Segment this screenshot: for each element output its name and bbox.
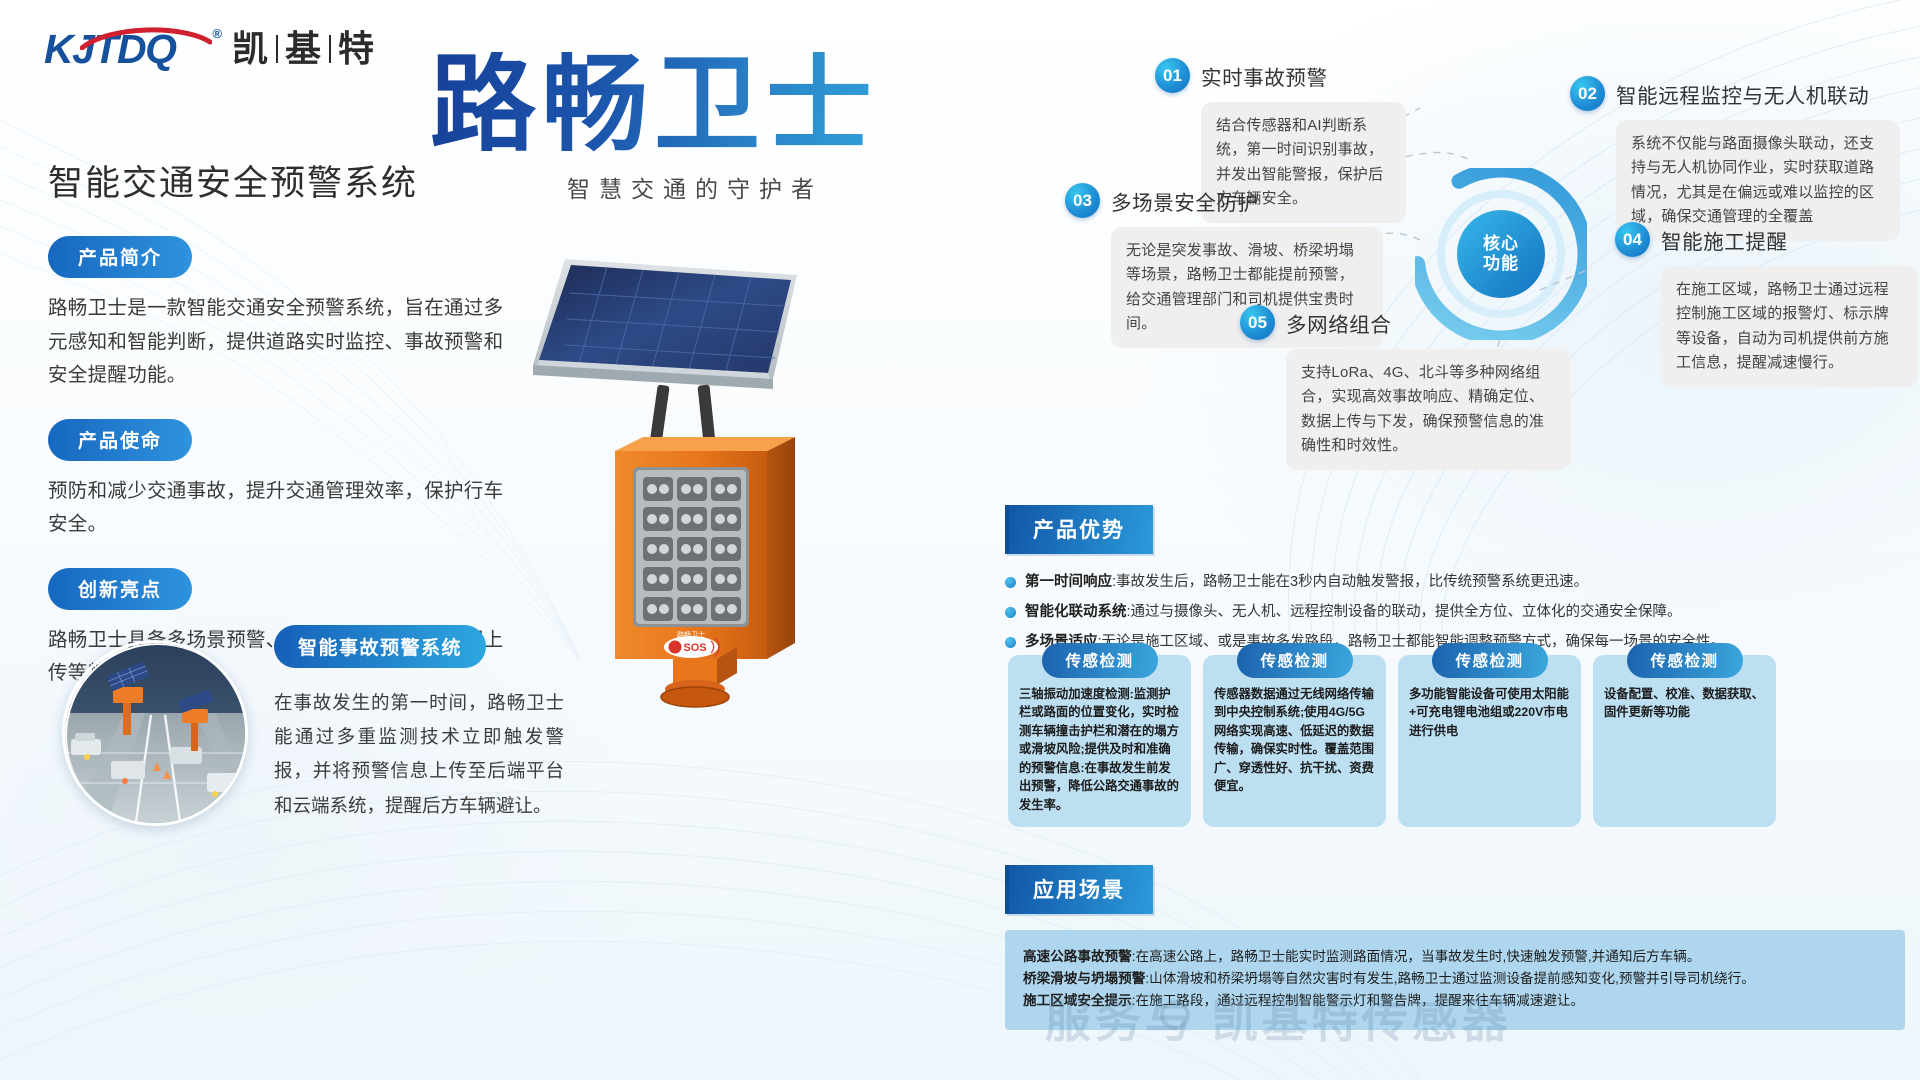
advantage-item: 第一时间响应:事故发生后，路畅卫士能在3秒内自动触发警报，比传统预警系统更迅速。: [1005, 572, 1885, 593]
callout-05-title: 多网络组合: [1286, 308, 1392, 338]
device-photo: 路畅卫士 SOS: [505, 245, 905, 715]
callout-02: 02 智能远程监控与无人机联动 系统不仅能与路面摄像头联动，还支持与无人机协同作…: [1570, 76, 1900, 241]
callout-05-head: 05 多网络组合: [1240, 305, 1540, 340]
applications-box: 高速公路事故预警:在高速公路上，路畅卫士能实时监测路面情况，当事故发生时,快速触…: [1005, 930, 1905, 1030]
logo-arc-icon: [80, 24, 212, 50]
sensor-card-2: 传感检测 传感器数据通过无线网络传输到中央控制系统;使用4G/5G网络实现高速、…: [1203, 655, 1386, 827]
sos-label: SOS: [683, 642, 706, 654]
application-desc: 山体滑坡和桥梁坍塌等自然灾害时有发生,路畅卫士通过监测设备提前感知变化,预警并引…: [1149, 971, 1755, 986]
section-pill-product-mission: 产品使命: [48, 419, 192, 461]
applications-section: 应用场景 高速公路事故预警:在高速公路上，路畅卫士能实时监测路面情况，当事故发生…: [1005, 865, 1905, 1030]
callout-03-badge: 03: [1065, 183, 1100, 218]
advantage-text: 第一时间响应:事故发生后，路畅卫士能在3秒内自动触发警报，比传统预警系统更迅速。: [1025, 572, 1588, 593]
callout-01-title: 实时事故预警: [1201, 61, 1328, 91]
core-function-label: 核心 功能: [1483, 234, 1519, 274]
section-product-mission: 产品使命 预防和减少交通事故，提升交通管理效率，保护行车安全。: [48, 419, 518, 542]
advantage-desc: 通过与摄像头、无人机、远程控制设备的联动，提供全方位、立体化的交通安全保障。: [1131, 604, 1682, 620]
section-text-product-mission: 预防和减少交通事故，提升交通管理效率，保护行车安全。: [48, 475, 518, 542]
advantages-list: 第一时间响应:事故发生后，路畅卫士能在3秒内自动触发警报，比传统预警系统更迅速。…: [1005, 572, 1885, 653]
page-title: 智能交通安全预警系统: [48, 155, 518, 206]
callout-05-badge: 05: [1240, 305, 1275, 340]
logo-cn-char-2: 基: [285, 26, 322, 72]
advantages-section: 产品优势 第一时间响应:事故发生后，路畅卫士能在3秒内自动触发警报，比传统预警系…: [1005, 505, 1885, 662]
bullet-dot-icon: [1005, 637, 1016, 648]
bullet-dot-icon: [1005, 577, 1016, 588]
callout-05: 05 多网络组合 支持LoRa、4G、北斗等多种网络组合，实现高效事故响应、精确…: [1240, 305, 1540, 470]
logo-mark: KJTDQ ®: [44, 26, 216, 72]
brand-logo: KJTDQ ® 凯 基 特: [44, 26, 375, 72]
application-line: 桥梁滑坡与坍塌预警:山体滑坡和桥梁坍塌等自然灾害时有发生,路畅卫士通过监测设备提…: [1023, 968, 1887, 990]
application-label: 高速公路事故预警: [1023, 949, 1132, 964]
callout-02-head: 02 智能远程监控与无人机联动: [1570, 76, 1900, 111]
callout-03-head: 03 多场景安全防护: [1065, 183, 1355, 218]
registered-trademark-icon: ®: [212, 26, 222, 41]
bullet-dot-icon: [1005, 607, 1016, 618]
poster-root: KJTDQ ® 凯 基 特 路畅卫士 智慧交通的守护者 智能交通安全预警系统 产…: [0, 0, 1920, 1080]
callout-01-badge: 01: [1155, 58, 1190, 93]
advantage-label: 智能化联动系统: [1025, 604, 1127, 620]
section-pill-product-intro: 产品简介: [48, 236, 192, 278]
callout-02-badge: 02: [1570, 76, 1605, 111]
section-text-product-intro: 路畅卫士是一款智能交通安全预警系统，旨在通过多元感知和智能判断，提供道路实时监控…: [48, 292, 518, 393]
section-product-intro: 产品简介 路畅卫士是一款智能交通安全预警系统，旨在通过多元感知和智能判断，提供道…: [48, 236, 518, 393]
sensor-cards-row: 传感检测 三轴振动加速度检测:监测护栏或路面的位置变化，实时检测车辆撞击护栏和潜…: [1008, 655, 1776, 827]
sensor-card-1-body: 三轴振动加速度检测:监测护栏或路面的位置变化，实时检测车辆撞击护栏和潜在的塌方或…: [1019, 685, 1180, 814]
sensor-card-2-title: 传感检测: [1236, 643, 1352, 678]
highway-scene-photo: [62, 640, 248, 826]
callout-04-badge: 04: [1615, 222, 1650, 257]
hero-title: 路畅卫士: [430, 52, 900, 158]
application-label: 施工区域安全提示: [1023, 993, 1132, 1008]
callout-05-body: 支持LoRa、4G、北斗等多种网络组合，实现高效事故响应、精确定位、数据上传与下…: [1286, 349, 1571, 470]
advantages-banner: 产品优势: [1005, 505, 1153, 554]
sensor-card-3-title: 传感检测: [1431, 643, 1547, 678]
callout-03-title: 多场景安全防护: [1111, 186, 1259, 216]
sensor-card-1-title: 传感检测: [1041, 643, 1157, 678]
logo-cn-char-3: 特: [338, 26, 375, 72]
sensor-card-3: 传感检测 多功能智能设备可使用太阳能+可充电锂电池组或220V市电进行供电: [1398, 655, 1581, 827]
warning-system-pill: 智能事故预警系统: [274, 625, 486, 668]
application-line: 施工区域安全提示:在施工路段，通过远程控制智能警示灯和警告牌，提醒来往车辆减速避…: [1023, 990, 1887, 1012]
application-line: 高速公路事故预警:在高速公路上，路畅卫士能实时监测路面情况，当事故发生时,快速触…: [1023, 946, 1887, 968]
sensor-card-2-body: 传感器数据通过无线网络传输到中央控制系统;使用4G/5G网络实现高速、低延迟的数…: [1214, 685, 1375, 796]
callout-04-title: 智能施工提醒: [1661, 225, 1788, 255]
advantage-label: 第一时间响应: [1025, 574, 1112, 590]
callout-02-title: 智能远程监控与无人机联动: [1616, 79, 1869, 109]
sensor-card-4-body: 设备配置、校准、数据获取、固件更新等功能: [1604, 685, 1765, 722]
logo-cn-char-1: 凯: [232, 26, 269, 72]
application-desc: 在施工路段，通过远程控制智能警示灯和警告牌，提醒来往车辆减速避让。: [1136, 993, 1585, 1008]
advantage-text: 智能化联动系统:通过与摄像头、无人机、远程控制设备的联动，提供全方位、立体化的交…: [1025, 602, 1682, 623]
callout-04: 04 智能施工提醒 在施工区域，路畅卫士通过远程控制施工区域的报警灯、标示牌等设…: [1615, 222, 1915, 387]
applications-banner: 应用场景: [1005, 865, 1153, 914]
logo-chinese-name: 凯 基 特: [232, 26, 375, 72]
logo-separator: [329, 35, 331, 63]
advantage-item: 智能化联动系统:通过与摄像头、无人机、远程控制设备的联动，提供全方位、立体化的交…: [1005, 602, 1885, 623]
sensor-card-4: 传感检测 设备配置、校准、数据获取、固件更新等功能: [1593, 655, 1776, 827]
application-label: 桥梁滑坡与坍塌预警: [1023, 971, 1145, 986]
solar-warning-device-illustration: 路畅卫士 SOS: [505, 245, 905, 715]
logo-separator: [276, 35, 278, 63]
callout-01-head: 01 实时事故预警: [1155, 58, 1377, 93]
sensor-card-1: 传感检测 三轴振动加速度检测:监测护栏或路面的位置变化，实时检测车辆撞击护栏和潜…: [1008, 655, 1191, 827]
application-desc: 在高速公路上，路畅卫士能实时监测路面情况，当事故发生时,快速触发预警,并通知后方…: [1136, 949, 1701, 964]
callout-04-head: 04 智能施工提醒: [1615, 222, 1915, 257]
advantage-desc: 事故发生后，路畅卫士能在3秒内自动触发警报，比传统预警系统更迅速。: [1116, 574, 1588, 590]
highway-scene-illustration: [65, 643, 248, 826]
sensor-card-4-title: 传感检测: [1626, 643, 1742, 678]
sensor-card-3-body: 多功能智能设备可使用太阳能+可充电锂电池组或220V市电进行供电: [1409, 685, 1570, 740]
callout-04-body: 在施工区域，路畅卫士通过远程控制施工区域的报警灯、标示牌等设备，自动为司机提供前…: [1661, 266, 1918, 387]
section-pill-innovation: 创新亮点: [48, 568, 192, 610]
